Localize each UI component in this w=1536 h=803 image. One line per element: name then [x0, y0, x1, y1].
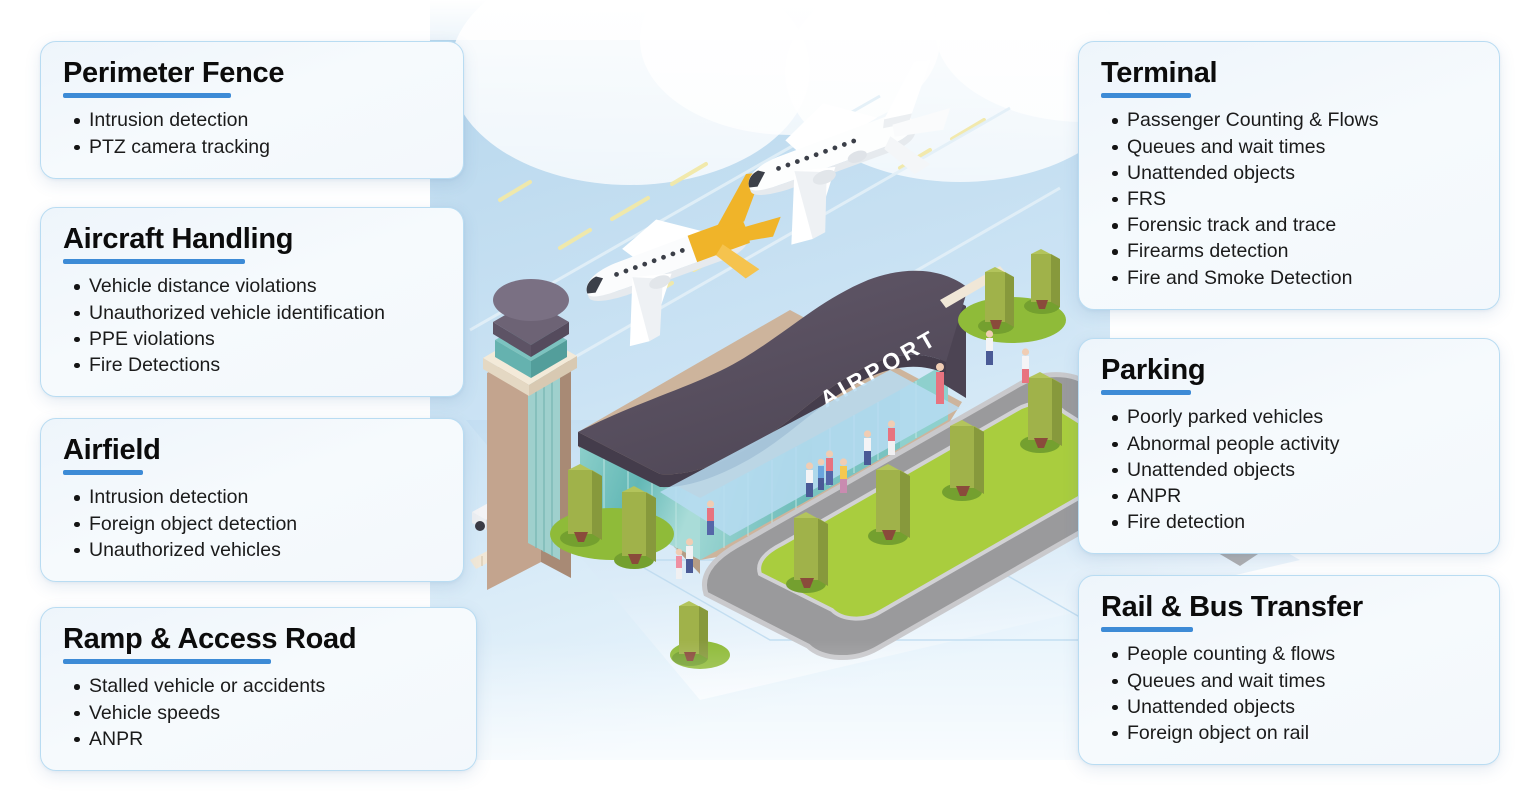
- list-item: Queues and wait times: [1127, 134, 1477, 160]
- feature-list-parking: Poorly parked vehicles Abnormal people a…: [1101, 404, 1477, 535]
- list-item: Fire and Smoke Detection: [1127, 265, 1477, 291]
- title-underline: [63, 659, 271, 664]
- card-title-aircraft-handling: Aircraft Handling: [63, 224, 441, 255]
- list-item: Fire Detections: [89, 352, 441, 378]
- feature-list-terminal: Passenger Counting & Flows Queues and wa…: [1101, 107, 1477, 291]
- title-underline: [63, 470, 143, 475]
- title-underline: [1101, 627, 1193, 632]
- list-item: Foreign object detection: [89, 511, 441, 537]
- card-title-ramp-access-road: Ramp & Access Road: [63, 624, 454, 655]
- card-parking[interactable]: Parking Poorly parked vehicles Abnormal …: [1078, 338, 1500, 554]
- list-item: Unattended objects: [1127, 457, 1477, 483]
- list-item: Intrusion detection: [89, 107, 441, 133]
- list-item: Abnormal people activity: [1127, 431, 1477, 457]
- list-item: Vehicle distance violations: [89, 273, 441, 299]
- title-underline: [63, 93, 231, 98]
- list-item: Unauthorized vehicle identification: [89, 300, 441, 326]
- card-title-terminal: Terminal: [1101, 58, 1477, 89]
- title-underline: [1101, 390, 1191, 395]
- title-underline: [1101, 93, 1191, 98]
- list-item: ANPR: [89, 726, 454, 752]
- feature-list-aircraft-handling: Vehicle distance violations Unauthorized…: [63, 273, 441, 378]
- card-title-rail-bus-transfer: Rail & Bus Transfer: [1101, 592, 1477, 623]
- card-ramp-access-road[interactable]: Ramp & Access Road Stalled vehicle or ac…: [40, 607, 477, 771]
- feature-list-perimeter-fence: Intrusion detection PTZ camera tracking: [63, 107, 441, 159]
- list-item: Foreign object on rail: [1127, 720, 1477, 746]
- list-item: Unattended objects: [1127, 160, 1477, 186]
- list-item: Intrusion detection: [89, 484, 441, 510]
- list-item: Unauthorized vehicles: [89, 537, 441, 563]
- list-item: Queues and wait times: [1127, 668, 1477, 694]
- list-item: Passenger Counting & Flows: [1127, 107, 1477, 133]
- feature-list-ramp-access-road: Stalled vehicle or accidents Vehicle spe…: [63, 673, 454, 752]
- feature-list-airfield: Intrusion detection Foreign object detec…: [63, 484, 441, 563]
- list-item: ANPR: [1127, 483, 1477, 509]
- card-title-airfield: Airfield: [63, 435, 441, 466]
- list-item: FRS: [1127, 186, 1477, 212]
- card-terminal[interactable]: Terminal Passenger Counting & Flows Queu…: [1078, 41, 1500, 310]
- list-item: PTZ camera tracking: [89, 134, 441, 160]
- card-airfield[interactable]: Airfield Intrusion detection Foreign obj…: [40, 418, 464, 582]
- list-item: Stalled vehicle or accidents: [89, 673, 454, 699]
- list-item: People counting & flows: [1127, 641, 1477, 667]
- list-item: Unattended objects: [1127, 694, 1477, 720]
- card-title-perimeter-fence: Perimeter Fence: [63, 58, 441, 89]
- list-item: Fire detection: [1127, 509, 1477, 535]
- list-item: Forensic track and trace: [1127, 212, 1477, 238]
- list-item: PPE violations: [89, 326, 441, 352]
- feature-list-rail-bus-transfer: People counting & flows Queues and wait …: [1101, 641, 1477, 746]
- list-item: Firearms detection: [1127, 238, 1477, 264]
- list-item: Vehicle speeds: [89, 700, 454, 726]
- card-perimeter-fence[interactable]: Perimeter Fence Intrusion detection PTZ …: [40, 41, 464, 179]
- card-aircraft-handling[interactable]: Aircraft Handling Vehicle distance viola…: [40, 207, 464, 397]
- infographic-root: AIRPORT: [0, 0, 1536, 803]
- title-underline: [63, 259, 245, 264]
- card-rail-bus-transfer[interactable]: Rail & Bus Transfer People counting & fl…: [1078, 575, 1500, 765]
- list-item: Poorly parked vehicles: [1127, 404, 1477, 430]
- card-title-parking: Parking: [1101, 355, 1477, 386]
